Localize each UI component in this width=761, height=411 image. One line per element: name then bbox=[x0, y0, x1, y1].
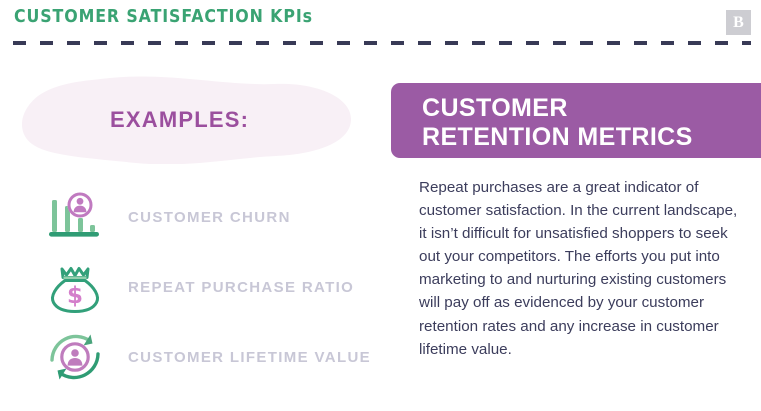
infographic-slide: CUSTOMER SATISFACTION KPIs B EXAMPLES: bbox=[0, 0, 761, 411]
cycle-arrows-user-icon bbox=[44, 326, 106, 388]
money-bag-dollar-icon: $ bbox=[44, 256, 106, 318]
corner-badge: B bbox=[726, 10, 751, 35]
retention-header-line-2: RETENTION METRICS bbox=[422, 123, 761, 152]
kpi-label-customer-lifetime-value: CUSTOMER LIFETIME VALUE bbox=[128, 349, 371, 366]
retention-header-line-1: CUSTOMER bbox=[422, 94, 761, 123]
corner-badge-letter: B bbox=[733, 15, 744, 31]
declining-bar-chart-with-user-icon bbox=[44, 186, 106, 248]
kpi-label-repeat-purchase-ratio: REPEAT PURCHASE RATIO bbox=[128, 279, 354, 296]
kpi-item-repeat-purchase-ratio[interactable]: $ REPEAT PURCHASE RATIO bbox=[44, 256, 354, 318]
retention-metrics-header: CUSTOMER RETENTION METRICS bbox=[391, 83, 761, 158]
page-title: CUSTOMER SATISFACTION KPIs bbox=[14, 6, 313, 27]
svg-text:$: $ bbox=[67, 283, 83, 309]
retention-body-text: Repeat purchases are a great indicator o… bbox=[419, 176, 739, 361]
kpi-item-customer-churn[interactable]: CUSTOMER CHURN bbox=[44, 186, 291, 248]
kpi-item-customer-lifetime-value[interactable]: CUSTOMER LIFETIME VALUE bbox=[44, 326, 371, 388]
header-divider bbox=[13, 41, 751, 45]
examples-label: EXAMPLES: bbox=[110, 107, 249, 133]
kpi-label-customer-churn: CUSTOMER CHURN bbox=[128, 209, 291, 226]
